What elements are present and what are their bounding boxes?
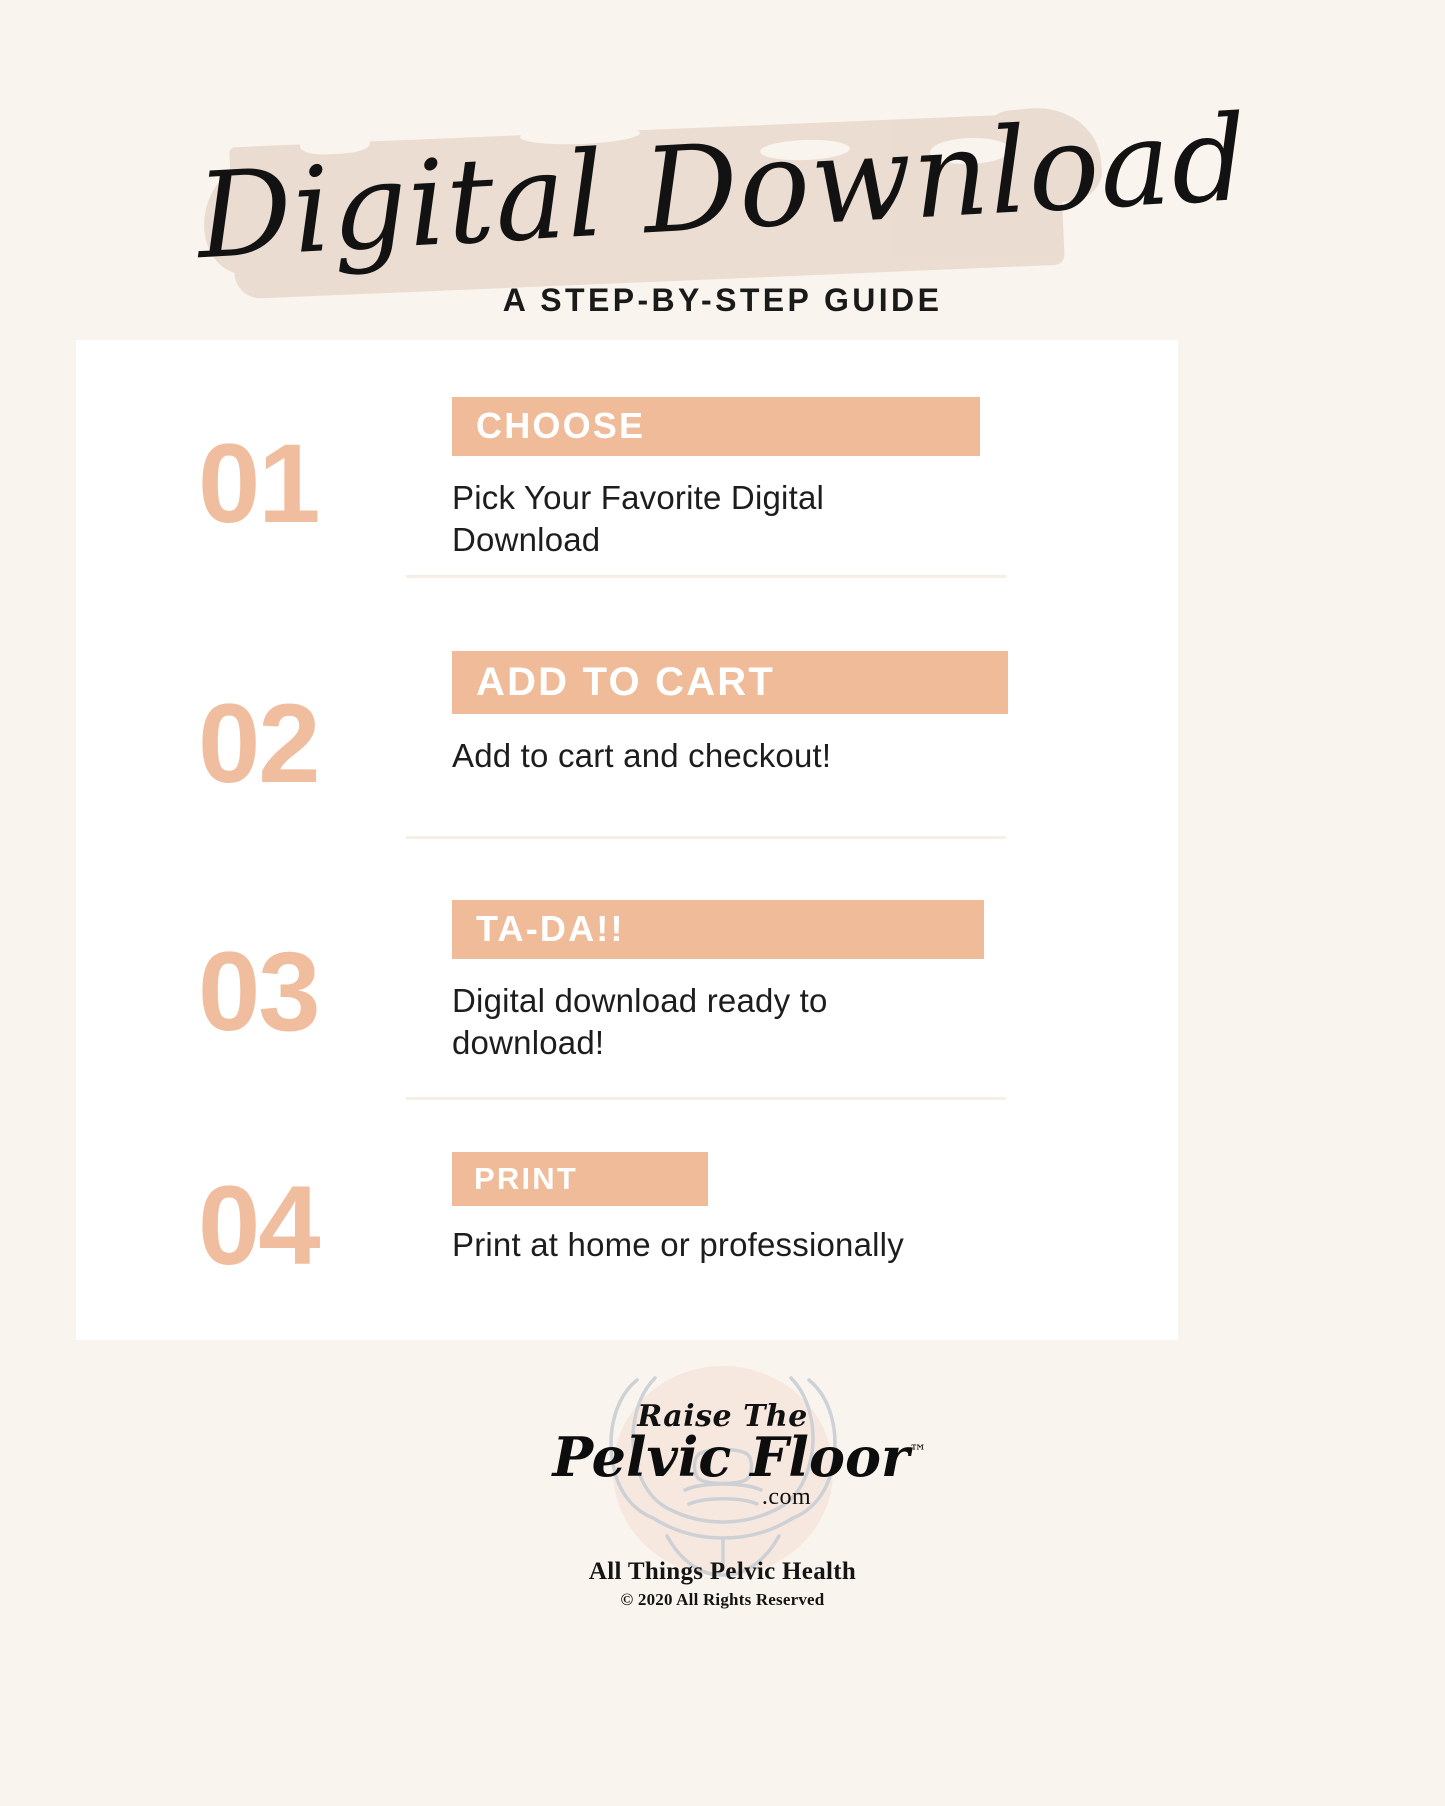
step-body: ADD TO CART Add to cart and checkout! <box>452 632 1092 777</box>
step-label-add-to-cart: ADD TO CART <box>452 651 1008 714</box>
step-label-print: PRINT <box>452 1152 708 1206</box>
step-description: Add to cart and checkout! <box>452 735 972 777</box>
step-divider <box>406 575 1006 578</box>
step-body: PRINT Print at home or professionally <box>452 1140 1092 1266</box>
brand-logo: Raise The Pelvic Floor™ .com All Things … <box>553 1358 893 1608</box>
copyright-notice: © 2020 All Rights Reserved <box>553 1590 893 1610</box>
header: Digital Download A STEP-BY-STEP GUIDE <box>0 0 1445 340</box>
step-number: 02 <box>198 688 319 800</box>
brand-tagline: All Things Pelvic Health <box>553 1558 893 1586</box>
step-description: Print at home or professionally <box>452 1224 972 1266</box>
step-description: Digital download ready to download! <box>452 980 912 1064</box>
step-body: CHOOSE Pick Your Favorite Digital Downlo… <box>452 380 1092 561</box>
step-number: 03 <box>198 936 319 1048</box>
step-number: 04 <box>198 1170 319 1282</box>
step-number: 01 <box>198 428 319 540</box>
page-subtitle: A STEP-BY-STEP GUIDE <box>0 282 1445 319</box>
infographic-page: Digital Download A STEP-BY-STEP GUIDE 01… <box>0 0 1445 1806</box>
footer: Raise The Pelvic Floor™ .com All Things … <box>0 1340 1445 1806</box>
step-divider <box>406 836 1006 839</box>
step-body: TA-DA!! Digital download ready to downlo… <box>452 880 1092 1064</box>
logo-line-2: Pelvic Floor™ <box>553 1430 893 1484</box>
trademark-symbol: ™ <box>909 1442 926 1462</box>
step-item-02: 02 ADD TO CART Add to cart and checkout! <box>76 632 1178 882</box>
logo-brand-text: Pelvic Floor <box>553 1425 910 1489</box>
step-item-04: 04 PRINT Print at home or professionally <box>76 1140 1178 1340</box>
step-label-choose: CHOOSE <box>452 397 980 456</box>
step-divider <box>406 1097 1006 1100</box>
step-item-03: 03 TA-DA!! Digital download ready to dow… <box>76 880 1178 1140</box>
steps-card: 01 CHOOSE Pick Your Favorite Digital Dow… <box>76 340 1178 1340</box>
step-description: Pick Your Favorite Digital Download <box>452 477 912 561</box>
step-label-ta-da: TA-DA!! <box>452 900 984 959</box>
step-item-01: 01 CHOOSE Pick Your Favorite Digital Dow… <box>76 380 1178 630</box>
logo-domain: .com <box>553 1484 893 1511</box>
